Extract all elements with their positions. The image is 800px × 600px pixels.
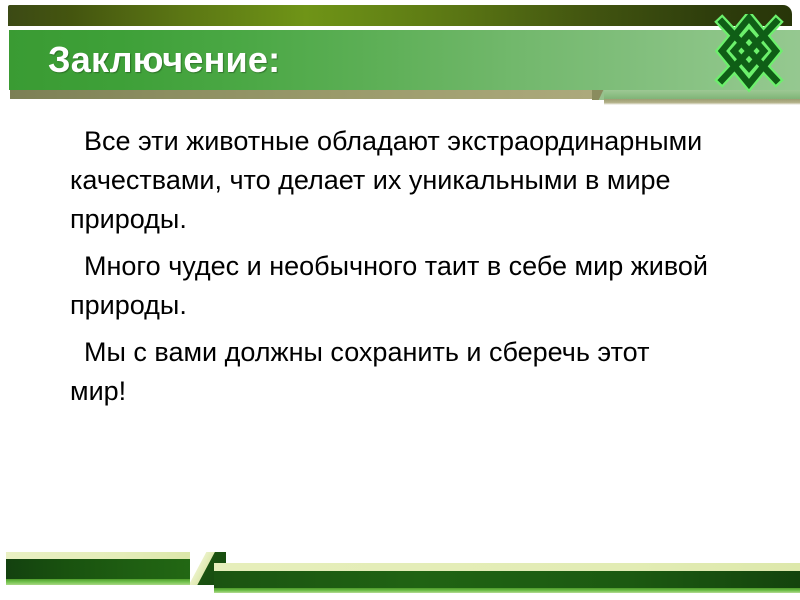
footer-left-bar [6,559,206,579]
footer-left-highlight [6,552,198,559]
footer-right-highlight [214,563,800,571]
footer-right-underline [214,588,800,593]
presentation-slide: Заключение: Все эти животные обладаю [0,0,800,600]
slide-body-text: Все эти животные обладают экстраординарн… [70,122,710,411]
body-paragraph-3: Мы с вами должны сохранить и сберечь это… [70,333,710,411]
footer-left-underline [6,579,206,585]
header-shelf-shadow [604,99,800,105]
header-left-notch [0,30,9,90]
footer-right-bar [214,571,800,588]
header-shadow-strip-left [10,90,606,99]
slide-header-banner: Заключение: [0,0,800,110]
body-paragraph-2: Много чудес и необычного таит в себе мир… [70,247,710,325]
interlaced-diamond-weave-logo-icon [712,14,786,94]
slide-footer-banner [0,530,800,600]
header-top-accent-strip [8,5,792,26]
slide-title: Заключение: [48,31,280,89]
body-paragraph-1: Все эти животные обладают экстраординарн… [70,122,710,239]
